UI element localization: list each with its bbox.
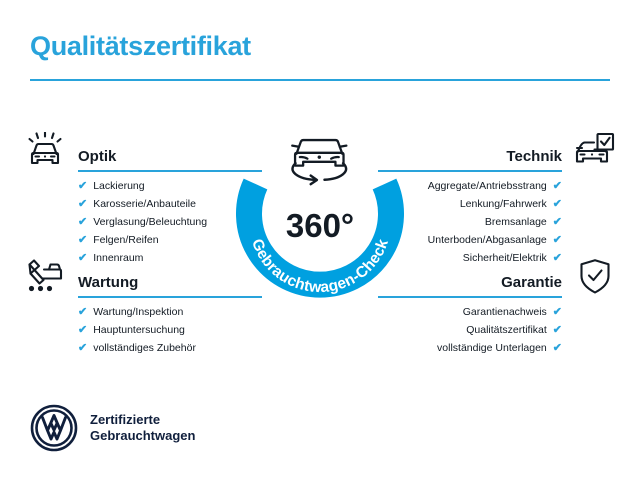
list-item-label: Felgen/Reifen xyxy=(93,235,158,246)
optik-list: ✔Lackierung ✔Karosserie/Anbauteile ✔Verg… xyxy=(22,181,262,264)
list-item: ✔Qualitätszertifikat xyxy=(378,325,618,336)
check-icon: ✔ xyxy=(78,307,87,318)
page-title: Qualitätszertifikat xyxy=(30,32,610,62)
vw-lockup: Zertifizierte Gebrauchtwagen xyxy=(30,404,195,452)
check-icon: ✔ xyxy=(553,307,562,318)
list-item-label: Lackierung xyxy=(93,181,144,192)
wartung-list: ✔Wartung/Inspektion ✔Hauptuntersuchung ✔… xyxy=(22,307,262,354)
check-icon: ✔ xyxy=(553,217,562,228)
garantie-list: ✔Garantienachweis ✔Qualitätszertifikat ✔… xyxy=(378,307,618,354)
list-item: ✔Karosserie/Anbauteile xyxy=(22,199,262,210)
wartung-header: Wartung xyxy=(22,254,262,298)
check-icon: ✔ xyxy=(78,181,87,192)
garantie-header: Garantie xyxy=(378,254,618,298)
check-icon: ✔ xyxy=(78,199,87,210)
check-icon: ✔ xyxy=(553,199,562,210)
gebrauchtwagen-check-badge: Gebrauchtwagen-Check 360° xyxy=(232,124,408,304)
shield-check-icon xyxy=(572,256,618,298)
section-wartung: Wartung ✔Wartung/Inspektion ✔Hauptunters… xyxy=(22,254,262,361)
list-item: ✔Aggregate/Antriebsstrang xyxy=(378,181,618,192)
list-item: ✔vollständige Unterlagen xyxy=(378,343,618,354)
vw-lockup-line2: Gebrauchtwagen xyxy=(90,428,195,444)
list-item-label: vollständige Unterlagen xyxy=(437,343,547,354)
list-item: ✔Bremsanlage xyxy=(378,217,618,228)
technik-block: Technik ✔Aggregate/Antriebsstrang xyxy=(378,128,618,264)
list-item: ✔Garantienachweis xyxy=(378,307,618,318)
vw-logo xyxy=(30,404,78,452)
optik-header: Optik xyxy=(22,128,262,172)
wartung-block: Wartung ✔Wartung/Inspektion ✔Hauptunters… xyxy=(22,254,262,354)
technik-list: ✔Aggregate/Antriebsstrang ✔Lenkung/Fahrw… xyxy=(378,181,618,264)
title-divider xyxy=(30,79,610,81)
check-icon: ✔ xyxy=(553,235,562,246)
check-icon: ✔ xyxy=(553,181,562,192)
list-item: ✔Lenkung/Fahrwerk xyxy=(378,199,618,210)
page-header: Qualitätszertifikat xyxy=(30,32,610,81)
car-shine-icon xyxy=(22,130,68,172)
list-item-label: Hauptuntersuchung xyxy=(93,325,185,336)
list-item: ✔vollständiges Zubehör xyxy=(22,343,262,354)
list-item-label: Lenkung/Fahrwerk xyxy=(460,199,547,210)
car-service-pen-icon xyxy=(22,256,68,298)
list-item-label: Aggregate/Antriebsstrang xyxy=(428,181,547,192)
list-item: ✔Lackierung xyxy=(22,181,262,192)
check-icon: ✔ xyxy=(553,325,562,336)
check-icon: ✔ xyxy=(78,325,87,336)
check-icon: ✔ xyxy=(553,343,562,354)
list-item: ✔Felgen/Reifen xyxy=(22,235,262,246)
check-icon: ✔ xyxy=(78,217,87,228)
list-item-label: Karosserie/Anbauteile xyxy=(93,199,196,210)
list-item-label: Wartung/Inspektion xyxy=(93,307,183,318)
section-technik: Technik ✔Aggregate/Antriebsstrang xyxy=(378,128,618,271)
list-item-label: Qualitätszertifikat xyxy=(466,325,547,336)
vw-lockup-text: Zertifizierte Gebrauchtwagen xyxy=(90,412,195,445)
list-item-label: vollständiges Zubehör xyxy=(93,343,196,354)
list-item: ✔Verglasung/Beleuchtung xyxy=(22,217,262,228)
car-checkbox-icon xyxy=(572,130,618,172)
list-item-label: Unterboden/Abgasanlage xyxy=(428,235,547,246)
list-item: ✔Hauptuntersuchung xyxy=(22,325,262,336)
list-item-label: Verglasung/Beleuchtung xyxy=(93,217,207,228)
optik-block: Optik ✔Lackierung ✔Karosserie/Anbauteile… xyxy=(22,128,262,264)
technik-header: Technik xyxy=(378,128,618,172)
garantie-block: Garantie ✔Garantienachweis ✔Qualitätszer… xyxy=(378,254,618,354)
badge-center-label: 360° xyxy=(286,207,354,244)
vw-lockup-line1: Zertifizierte xyxy=(90,412,195,428)
list-item-label: Garantienachweis xyxy=(463,307,547,318)
check-icon: ✔ xyxy=(78,343,87,354)
section-garantie: Garantie ✔Garantienachweis ✔Qualitätszer… xyxy=(378,254,618,361)
list-item-label: Bremsanlage xyxy=(485,217,547,228)
car-rotation-icon xyxy=(292,140,346,184)
check-icon: ✔ xyxy=(78,235,87,246)
list-item: ✔Wartung/Inspektion xyxy=(22,307,262,318)
list-item: ✔Unterboden/Abgasanlage xyxy=(378,235,618,246)
section-optik: Optik ✔Lackierung ✔Karosserie/Anbauteile… xyxy=(22,128,262,271)
